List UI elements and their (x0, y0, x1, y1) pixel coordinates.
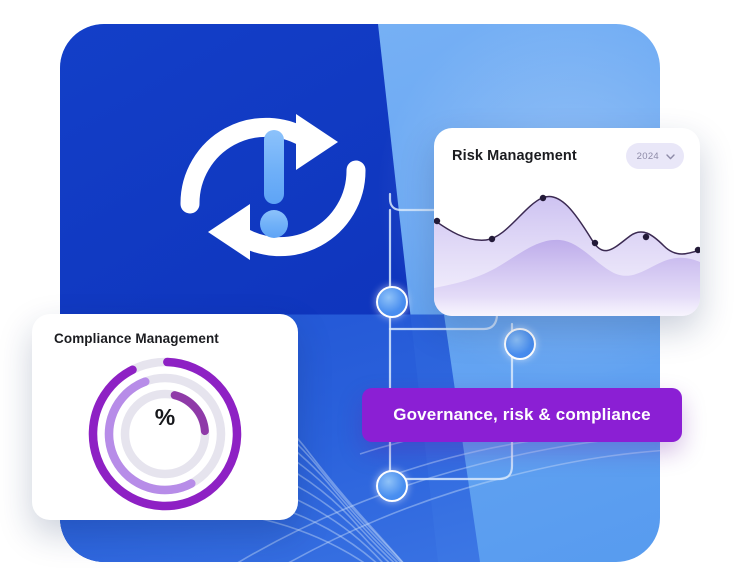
year-selector-value: 2024 (637, 151, 659, 162)
connector-node-mid (504, 328, 536, 360)
risk-chart (434, 184, 700, 316)
connector-node-left (376, 286, 408, 318)
risk-card-title: Risk Management (452, 148, 577, 164)
risk-card-header: Risk Management 2024 (434, 128, 700, 169)
chevron-down-icon (666, 147, 675, 165)
compliance-card-title: Compliance Management (32, 314, 298, 346)
compliance-ring-inner (117, 386, 214, 483)
refresh-alert-icon (168, 86, 378, 286)
connector-node-bottom (376, 470, 408, 502)
hero-illustration: Risk Management 2024 (0, 0, 737, 585)
compliance-donut-chart: % (32, 348, 298, 520)
compliance-center-label: % (32, 404, 298, 431)
year-selector[interactable]: 2024 (626, 143, 684, 169)
risk-management-card[interactable]: Risk Management 2024 (434, 128, 700, 316)
compliance-management-card[interactable]: Compliance Management % (32, 314, 298, 520)
grc-banner-label: Governance, risk & compliance (393, 405, 651, 425)
grc-banner[interactable]: Governance, risk & compliance (362, 388, 682, 442)
